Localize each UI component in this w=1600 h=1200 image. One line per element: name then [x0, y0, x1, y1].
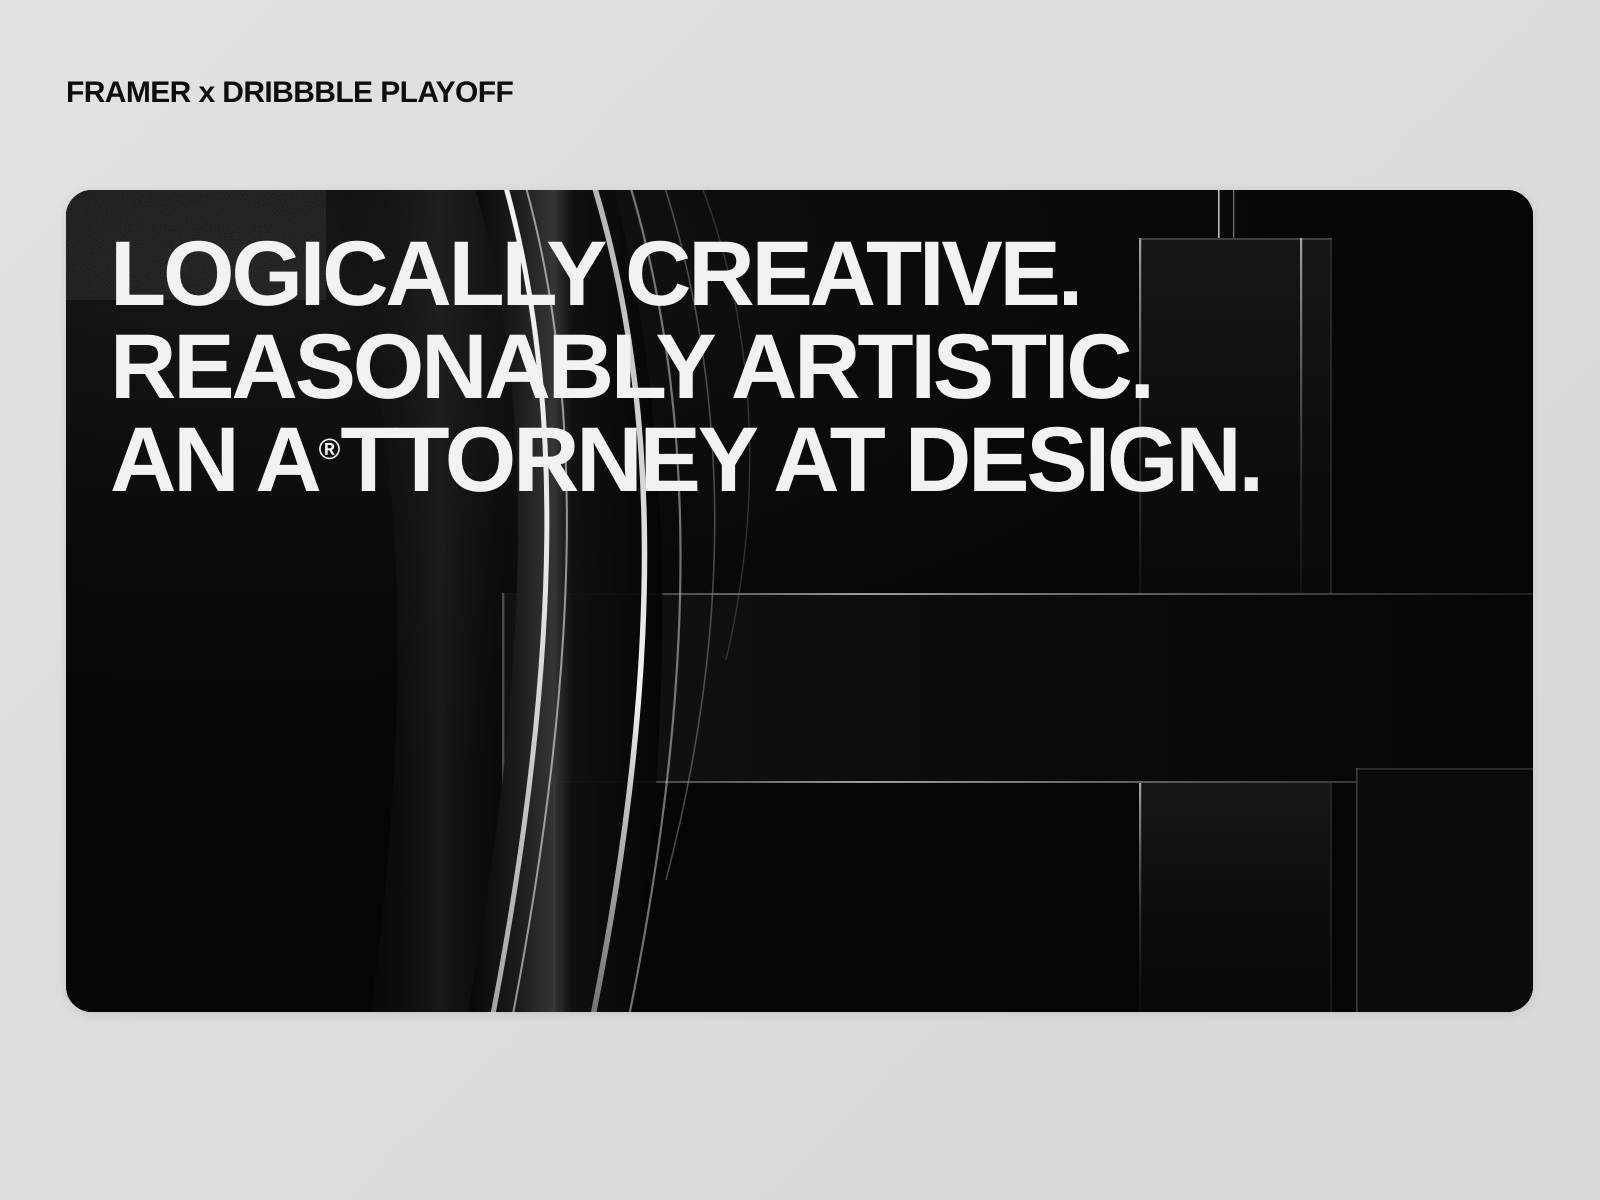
headline-line-3: AN A®TTORNEY AT DESIGN.	[110, 414, 1410, 507]
hero-headline: LOGICALLY CREATIVE. REASONABLY ARTISTIC.…	[110, 228, 1410, 507]
headline-line-1: LOGICALLY CREATIVE.	[110, 228, 1410, 321]
headline-line-3-suffix: TTORNEY AT DESIGN.	[340, 409, 1260, 511]
page-title: FRAMER x DRIBBBLE PLAYOFF	[66, 76, 513, 110]
registered-trademark-icon: ®	[319, 433, 341, 466]
footer: PORTFOLIO WEBSITE PROJECT. BUILT IN FRAM…	[0, 1050, 1600, 1200]
headline-line-2: REASONABLY ARTISTIC.	[110, 321, 1410, 414]
headline-line-3-prefix: AN A	[110, 409, 319, 511]
